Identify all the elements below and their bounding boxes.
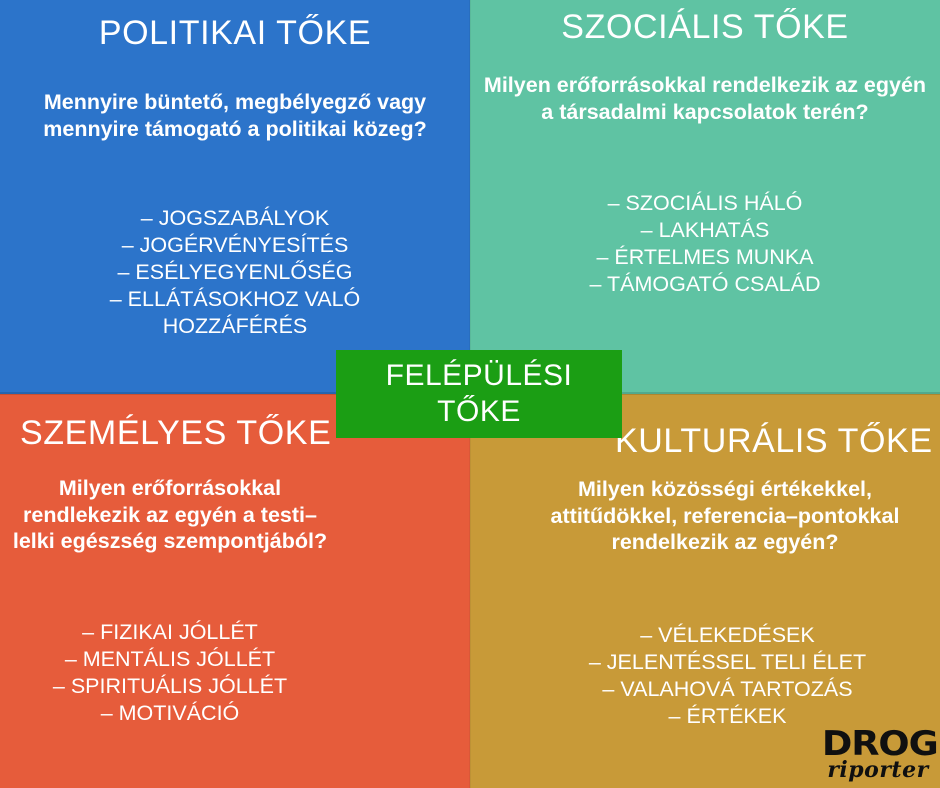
list-item: – VALAHOVÁ TARTOZÁS xyxy=(555,676,900,703)
capital-quadrant-infographic: POLITIKAI TŐKE Mennyire büntető, megbély… xyxy=(0,0,940,788)
quadrant-social-capital: SZOCIÁLIS TŐKE Milyen erőforrásokkal ren… xyxy=(470,0,940,394)
center-badge-recovery-capital: FELÉPÜLÉSI TŐKE xyxy=(336,350,622,438)
list-item: – VÉLEKEDÉSEK xyxy=(555,622,900,649)
list-item: – ÉRTELMES MUNKA xyxy=(480,244,930,271)
list-item: – LAKHATÁS xyxy=(480,217,930,244)
logo-wordmark-main: DROG xyxy=(822,728,934,760)
list-item: – MOTIVÁCIÓ xyxy=(10,700,330,727)
list-item: – SZOCIÁLIS HÁLÓ xyxy=(480,190,930,217)
quadrant-title-cultural: KULTURÁLIS TŐKE xyxy=(615,424,925,460)
list-item: – SPIRITUÁLIS JÓLLÉT xyxy=(10,673,330,700)
quadrant-list-political: – JOGSZABÁLYOK – JOGÉRVÉNYESÍTÉS – ESÉLY… xyxy=(10,205,460,340)
quadrant-list-cultural: – VÉLEKEDÉSEK – JELENTÉSSEL TELI ÉLET – … xyxy=(555,622,900,730)
quadrant-political-capital: POLITIKAI TŐKE Mennyire büntető, megbély… xyxy=(0,0,470,394)
quadrant-list-social: – SZOCIÁLIS HÁLÓ – LAKHATÁS – ÉRTELMES M… xyxy=(480,190,930,298)
drogriporter-logo: DROG riporter xyxy=(826,728,930,782)
quadrant-question-political: Mennyire büntető, megbélyegző vagy menny… xyxy=(10,89,460,142)
list-item: – FIZIKAI JÓLLÉT xyxy=(10,619,330,646)
quadrant-question-cultural: Milyen közösségi értékekkel, attitűdökke… xyxy=(550,476,900,556)
list-item: – ELLÁTÁSOKHOZ VALÓ xyxy=(10,286,460,313)
list-item: HOZZÁFÉRÉS xyxy=(10,313,460,340)
list-item: – JELENTÉSSEL TELI ÉLET xyxy=(555,649,900,676)
quadrant-personal-capital: SZEMÉLYES TŐKE Milyen erőforrásokkal ren… xyxy=(0,394,470,788)
quadrant-title-political: POLITIKAI TŐKE xyxy=(0,16,470,52)
list-item: – MENTÁLIS JÓLLÉT xyxy=(10,646,330,673)
quadrant-question-social: Milyen erőforrásokkal rendelkezik az egy… xyxy=(480,72,930,125)
center-badge-label-line1: FELÉPÜLÉSI xyxy=(386,358,573,394)
quadrant-list-personal: – FIZIKAI JÓLLÉT – MENTÁLIS JÓLLÉT – SPI… xyxy=(10,619,330,727)
quadrant-title-personal: SZEMÉLYES TŐKE xyxy=(20,416,320,452)
quadrant-title-social: SZOCIÁLIS TŐKE xyxy=(470,10,940,46)
center-badge-label-line2: TŐKE xyxy=(386,394,573,430)
list-item: – JOGSZABÁLYOK xyxy=(10,205,460,232)
quadrant-question-personal: Milyen erőforrásokkal rendlekezik az egy… xyxy=(10,475,330,555)
list-item: – ESÉLYEGYENLŐSÉG xyxy=(10,259,460,286)
list-item: – TÁMOGATÓ CSALÁD xyxy=(480,271,930,298)
list-item: – JOGÉRVÉNYESÍTÉS xyxy=(10,232,460,259)
